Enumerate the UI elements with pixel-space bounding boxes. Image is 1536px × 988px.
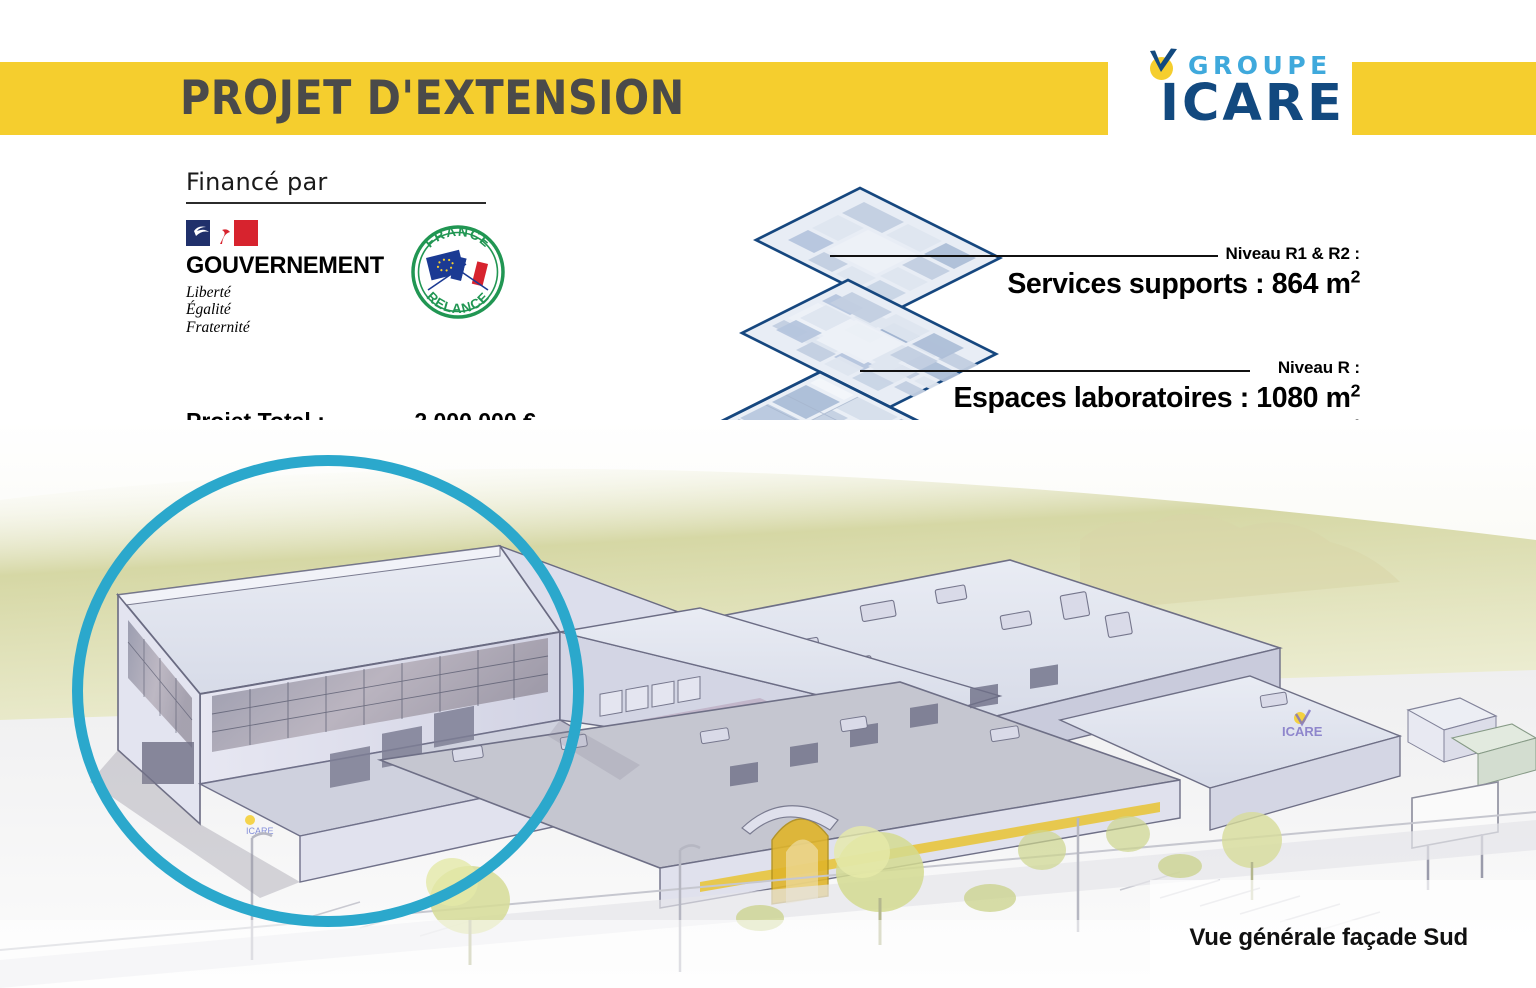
poster-root: PROJET D'EXTENSION GROUPE ICARE Financé … — [0, 0, 1536, 988]
header-banner-right — [1352, 62, 1536, 135]
funder-logos-row: GOUVERNEMENT Liberté Égalité Fraternité — [186, 220, 526, 340]
gouvernement-logo: GOUVERNEMENT Liberté Égalité Fraternité — [186, 220, 386, 336]
callout-niveau-r1-r2: Niveau R1 & R2 : Services supports : 864… — [1007, 244, 1360, 301]
funding-heading: Financé par — [186, 168, 526, 196]
render-caption: Vue générale façade Sud — [1189, 924, 1468, 952]
france-relance-logo: FRANCE RELANCE — [404, 218, 512, 326]
svg-text:ICARE: ICARE — [1282, 724, 1323, 739]
callout-headline: Services supports : 864 m2 — [1007, 268, 1360, 301]
motto-line-1: Liberté — [186, 284, 386, 301]
extension-zone-highlight-circle — [72, 455, 584, 927]
callout-level-label: Niveau R : — [953, 358, 1360, 378]
page-title: PROJET D'EXTENSION — [180, 62, 685, 135]
republic-motto: Liberté Égalité Fraternité — [186, 284, 386, 336]
gouvernement-wordmark: GOUVERNEMENT — [186, 252, 378, 280]
plan-layer-r2 — [756, 188, 1000, 310]
logo-icare-text: ICARE — [1160, 78, 1345, 129]
callout-level-label: Niveau R1 & R2 : — [1007, 244, 1360, 264]
french-flag-marianne-icon — [186, 220, 258, 246]
motto-line-2: Égalité — [186, 301, 386, 318]
callout-headline: Espaces laboratoires : 1080 m2 — [953, 382, 1360, 415]
funding-heading-rule — [186, 202, 486, 204]
motto-line-3: Fraternité — [186, 319, 386, 336]
groupe-icare-logo: GROUPE ICARE — [1146, 44, 1346, 136]
